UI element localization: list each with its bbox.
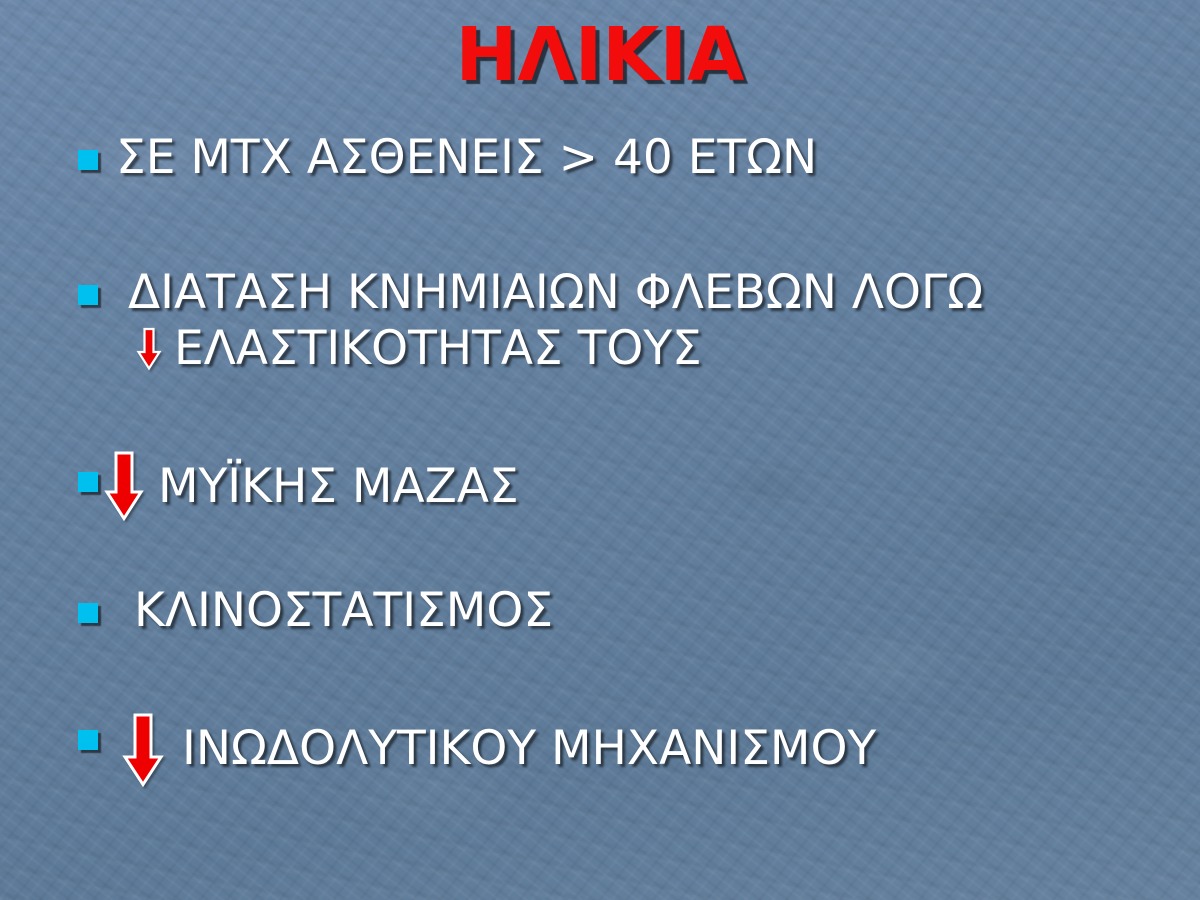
square-bullet-icon	[78, 285, 98, 305]
down-arrow-icon	[104, 450, 144, 522]
list-item: ΚΛΙΝΟΣΤΑΤΙΣΜΟΣ	[78, 583, 553, 639]
down-arrow-icon	[136, 327, 162, 371]
list-item-text: ΙΝΩΔΟΛΥΤΙΚΟΥ ΜΗΧΑΝΙΣΜΟΥ	[182, 721, 876, 777]
list-item-line: ΚΛΙΝΟΣΤΑΤΙΣΜΟΣ	[134, 583, 553, 639]
square-bullet-icon	[78, 472, 98, 492]
list-item-text: ΚΛΙΝΟΣΤΑΤΙΣΜΟΣ	[134, 583, 553, 639]
list-item-line: ΕΛΑΣΤΙΚΟΤΗΤΑΣ ΤΟΥΣ	[136, 321, 983, 377]
list-item-text: ΔΙΑΤΑΣΗ ΚΝΗΜΙΑΙΩΝ ΦΛΕΒΩΝ ΛΟΓΩ	[128, 265, 983, 321]
list-item-line: ΜΥΪΚΗΣ ΜΑΖΑΣ	[104, 452, 519, 522]
list-item-text: ΣΕ ΜΤΧ ΑΣΘΕΝΕΙΣ > 40 ΕΤΩΝ	[116, 130, 817, 186]
list-item: ΣΕ ΜΤΧ ΑΣΘΕΝΕΙΣ > 40 ΕΤΩΝ	[78, 130, 817, 186]
list-item-line: ΙΝΩΔΟΛΥΤΙΚΟΥ ΜΗΧΑΝΙΣΜΟΥ	[122, 710, 876, 788]
list-item-line: ΔΙΑΤΑΣΗ ΚΝΗΜΙΑΙΩΝ ΦΛΕΒΩΝ ΛΟΓΩ	[128, 265, 983, 321]
list-item-body: ΙΝΩΔΟΛΥΤΙΚΟΥ ΜΗΧΑΝΙΣΜΟΥ	[122, 710, 876, 788]
list-item: ΔΙΑΤΑΣΗ ΚΝΗΜΙΑΙΩΝ ΦΛΕΒΩΝ ΛΟΓΩ ΕΛΑΣΤΙΚΟΤΗ…	[78, 265, 983, 377]
square-bullet-icon	[78, 603, 98, 623]
list-item-body: ΜΥΪΚΗΣ ΜΑΖΑΣ	[104, 452, 519, 522]
list-item: ΜΥΪΚΗΣ ΜΑΖΑΣ	[78, 452, 519, 522]
bullet-list: ΣΕ ΜΤΧ ΑΣΘΕΝΕΙΣ > 40 ΕΤΩΝ ΔΙΑΤΑΣΗ ΚΝΗΜΙΑ…	[0, 0, 1200, 900]
presentation-slide: ΗΛΙΚΙΑ ΣΕ ΜΤΧ ΑΣΘΕΝΕΙΣ > 40 ΕΤΩΝ ΔΙΑΤΑΣΗ…	[0, 0, 1200, 900]
square-bullet-icon	[78, 730, 98, 750]
list-item-text: ΜΥΪΚΗΣ ΜΑΖΑΣ	[158, 459, 519, 515]
list-item-body: ΚΛΙΝΟΣΤΑΤΙΣΜΟΣ	[134, 583, 553, 639]
list-item-body: ΣΕ ΜΤΧ ΑΣΘΕΝΕΙΣ > 40 ΕΤΩΝ	[116, 130, 817, 186]
list-item-text: ΕΛΑΣΤΙΚΟΤΗΤΑΣ ΤΟΥΣ	[174, 321, 702, 377]
list-item: ΙΝΩΔΟΛΥΤΙΚΟΥ ΜΗΧΑΝΙΣΜΟΥ	[78, 710, 876, 788]
down-arrow-icon	[122, 712, 164, 788]
list-item-body: ΔΙΑΤΑΣΗ ΚΝΗΜΙΑΙΩΝ ΦΛΕΒΩΝ ΛΟΓΩ ΕΛΑΣΤΙΚΟΤΗ…	[128, 265, 983, 377]
list-item-line: ΣΕ ΜΤΧ ΑΣΘΕΝΕΙΣ > 40 ΕΤΩΝ	[116, 130, 817, 186]
square-bullet-icon	[78, 150, 98, 170]
